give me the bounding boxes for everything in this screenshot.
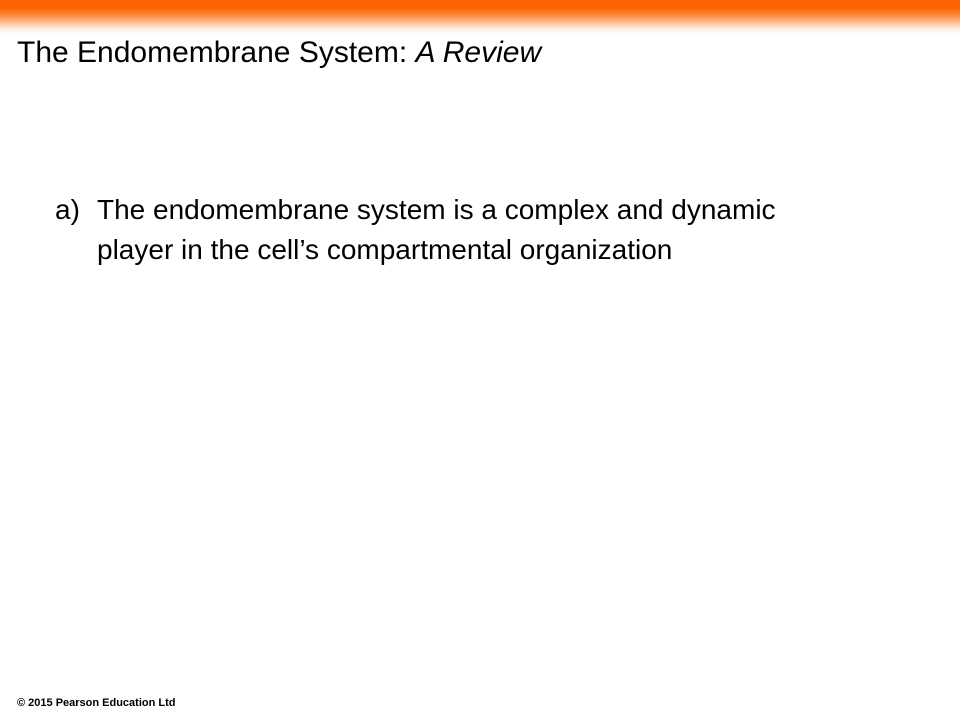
list-item: a) The endomembrane system is a complex … xyxy=(55,190,855,270)
page-title-emphasis: A Review xyxy=(416,36,542,69)
page-title: The Endomembrane System: A Review xyxy=(17,35,937,71)
body-content: a) The endomembrane system is a complex … xyxy=(55,190,855,270)
page-title-main: The Endomembrane System: xyxy=(17,36,416,69)
slide-canvas: The Endomembrane System: A Review a) The… xyxy=(0,0,960,720)
list-item-label: The endomembrane system is a complex and… xyxy=(97,190,797,270)
footer-copyright: © 2015 Pearson Education Ltd xyxy=(17,696,175,710)
orange-gradient-band-icon xyxy=(0,0,960,34)
list-item-marker: a) xyxy=(55,190,97,230)
